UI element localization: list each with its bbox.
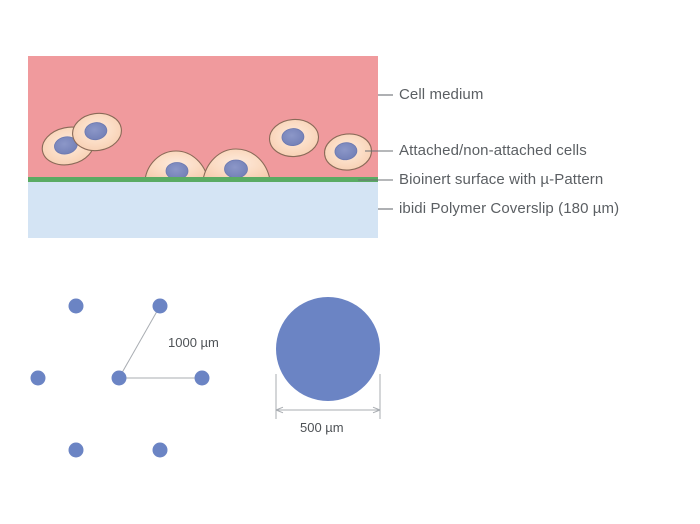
label-bioinert-surface: Bioinert surface with µ-Pattern: [399, 172, 603, 187]
schematic-svg: [0, 0, 700, 524]
label-cell-medium: Cell medium: [399, 87, 483, 102]
nucleus: [225, 160, 248, 178]
pattern-dot-center: [112, 371, 127, 386]
pattern-dot: [153, 443, 168, 458]
label-polymer-coverslip: ibidi Polymer Coverslip (180 µm): [399, 201, 619, 216]
cross-section-panel: [28, 56, 393, 238]
measure-diagonal: [119, 306, 160, 378]
micro-pattern-layout: [31, 299, 210, 458]
pattern-spot-detail: [276, 297, 380, 419]
pattern-dot: [69, 299, 84, 314]
pattern-dot: [195, 371, 210, 386]
label-spot-diameter: 500 µm: [300, 421, 344, 434]
pattern-dot: [69, 443, 84, 458]
pattern-dot: [153, 299, 168, 314]
nucleus: [166, 163, 188, 180]
label-attached-cells: Attached/non-attached cells: [399, 143, 587, 158]
pattern-spot-circle: [276, 297, 380, 401]
layer-polymer-coverslip: [28, 180, 378, 238]
figure-canvas: Cell medium Attached/non-attached cells …: [0, 0, 700, 524]
pattern-dot: [31, 371, 46, 386]
label-pattern-spacing: 1000 µm: [168, 336, 219, 349]
